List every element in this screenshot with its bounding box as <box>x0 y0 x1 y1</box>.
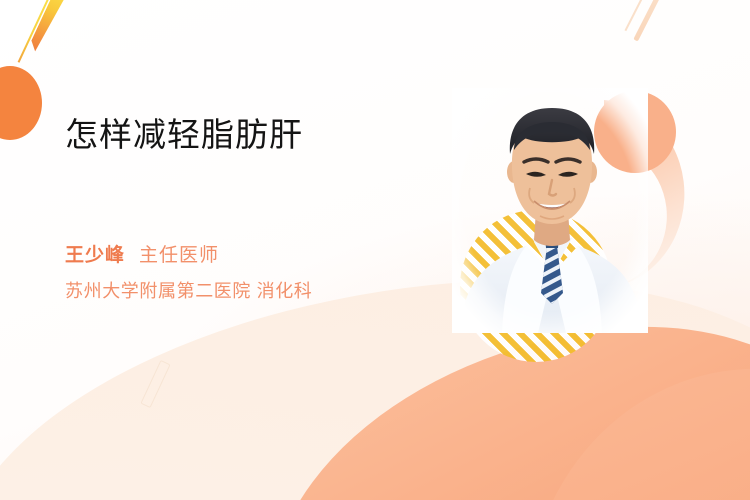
diagonal-gradient-stripe-decoration <box>28 0 69 53</box>
faint-outline-bar-decoration <box>140 360 170 408</box>
salmon-wave-secondary-decoration <box>514 359 750 500</box>
doctor-info-block: 王少峰主任医师 苏州大学附属第二医院 消化科 <box>65 246 312 300</box>
thin-yellow-line-decoration <box>18 0 53 63</box>
doctor-name-line: 王少峰主任医师 <box>65 246 312 265</box>
top-right-thin-line-decoration <box>624 0 653 31</box>
doctor-name: 王少峰 <box>65 245 125 266</box>
page-title: 怎样减轻脂肪肝 <box>65 116 465 154</box>
top-right-stripe-decoration <box>633 0 667 42</box>
title-block: 怎样减轻脂肪肝 <box>65 116 465 154</box>
doctor-affiliation: 苏州大学附属第二医院 消化科 <box>65 282 312 300</box>
orange-circle-decoration <box>0 66 42 140</box>
doctor-portrait <box>452 88 648 333</box>
course-title-card: 怎样减轻脂肪肝 王少峰主任医师 苏州大学附属第二医院 消化科 <box>0 0 750 500</box>
doctor-title: 主任医师 <box>139 245 219 266</box>
